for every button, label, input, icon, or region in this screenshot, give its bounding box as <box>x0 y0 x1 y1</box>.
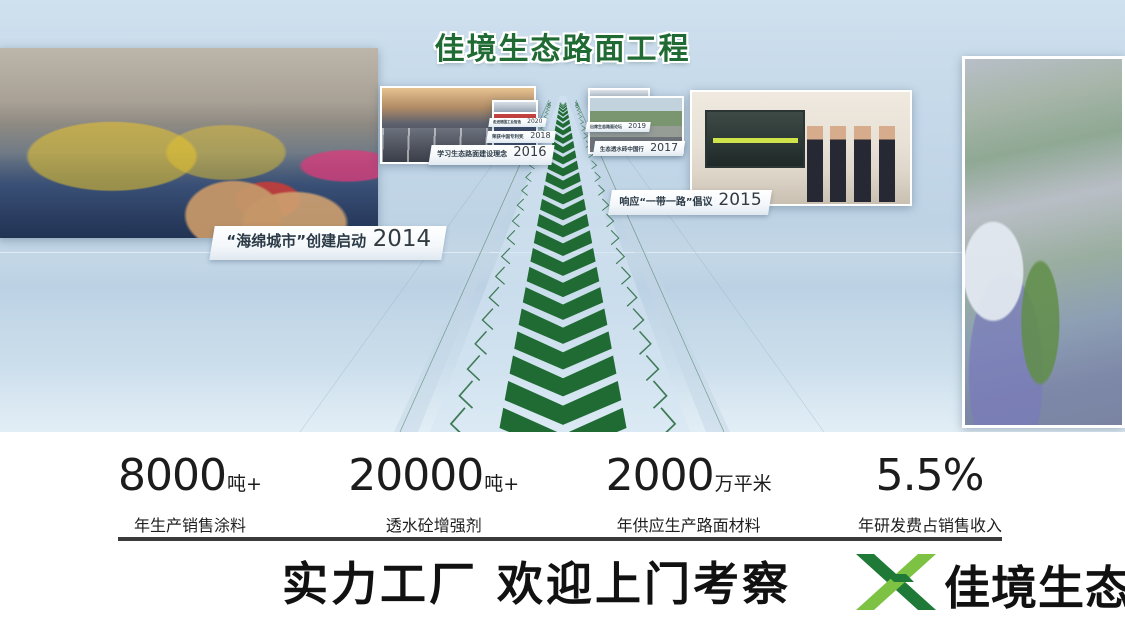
timeline-year-2020: 2020 <box>527 118 542 125</box>
stat-unit-1: 吨+ <box>484 473 519 495</box>
timeline-plate-2018: 荣获中国专利奖 2018 <box>486 131 556 143</box>
stat-unit-0: 吨+ <box>227 473 262 495</box>
stat-value-3: 5.5% <box>858 454 1002 498</box>
stat-item-1: 20000吨+ 透水砼增强剂 <box>348 454 519 536</box>
presentation-screen <box>705 110 805 168</box>
stat-label-0: 年生产销售涂料 <box>118 512 262 536</box>
stats-divider <box>118 537 1002 541</box>
stats-row: 8000吨+ 年生产销售涂料 20000吨+ 透水砼增强剂 2000万平米 年供… <box>118 454 1002 536</box>
page-title: 佳境生态路面工程 <box>0 24 1125 68</box>
attendee <box>807 126 823 202</box>
meeting-attendees <box>805 126 905 202</box>
timeline-year-2015: 2015 <box>719 190 762 210</box>
attendee <box>830 126 846 202</box>
timeline-text-2018: 荣获中国专利奖 <box>492 134 524 140</box>
timeline-year-2014: 2014 <box>372 226 431 252</box>
timeline-year-2019: 2019 <box>628 122 646 130</box>
timeline-year-2018: 2018 <box>530 131 550 140</box>
stat-unit-2: 万平米 <box>715 473 772 495</box>
stat-value-1: 20000吨+ <box>348 454 519 498</box>
attendee <box>854 126 870 202</box>
photo-aerial-road <box>962 56 1125 428</box>
timeline-plate-2020: 走进德国工业智造 2020 <box>488 118 547 127</box>
timeline-text-2016: 学习生态路面建设理念 <box>437 149 507 159</box>
timeline-plate-2014: “海绵城市”创建启动 2014 <box>209 226 447 260</box>
photo-charity <box>0 48 378 238</box>
stat-item-0: 8000吨+ 年生产销售涂料 <box>118 454 262 536</box>
timeline-year-2016: 2016 <box>513 145 546 160</box>
timeline-text-2020: 走进德国工业智造 <box>493 120 521 125</box>
photo-meeting <box>690 90 912 206</box>
timeline-year-2017: 2017 <box>650 141 678 154</box>
logo-text: 佳境生态 <box>944 552 1125 618</box>
timeline-text-2017: 生态透水砖中国行 <box>600 145 644 153</box>
hero-banner: 佳境生态路面工程 走进德国工业智造 2020 出席生态路面论坛 2019 荣获中… <box>0 0 1125 432</box>
footer-tagline: 实力工厂 欢迎上门考察 <box>282 548 791 614</box>
stat-label-3: 年研发费占销售收入 <box>858 512 1002 536</box>
timeline-text-2019: 出席生态路面论坛 <box>590 124 622 130</box>
stat-item-3: 5.5% 年研发费占销售收入 <box>858 454 1002 536</box>
timeline-plate-2015: 响应“一带一路”倡议 2015 <box>608 190 772 215</box>
stat-number-1: 20000 <box>348 450 483 501</box>
timeline-plate-2019: 出席生态路面论坛 2019 <box>585 122 650 132</box>
timeline-plate-2017: 生态透水砖中国行 2017 <box>593 141 685 156</box>
timeline-text-2014: “海绵城市”创建启动 <box>226 230 366 251</box>
stat-value-2: 2000万平米 <box>606 454 772 498</box>
stat-item-2: 2000万平米 年供应生产路面材料 <box>606 454 772 536</box>
company-logo: 佳境生态 <box>852 544 1125 624</box>
stat-number-2: 2000 <box>606 450 714 501</box>
stat-label-2: 年供应生产路面材料 <box>606 512 772 536</box>
attendee <box>879 126 895 202</box>
stat-number-3: 5.5% <box>876 450 984 501</box>
stat-label-1: 透水砼增强剂 <box>348 512 519 536</box>
timeline-text-2015: 响应“一带一路”倡议 <box>619 193 712 208</box>
stat-value-0: 8000吨+ <box>118 454 262 498</box>
logo-x-icon <box>852 548 940 620</box>
timeline-plate-2016: 学习生态路面建设理念 2016 <box>428 145 554 165</box>
stat-number-0: 8000 <box>118 450 226 501</box>
